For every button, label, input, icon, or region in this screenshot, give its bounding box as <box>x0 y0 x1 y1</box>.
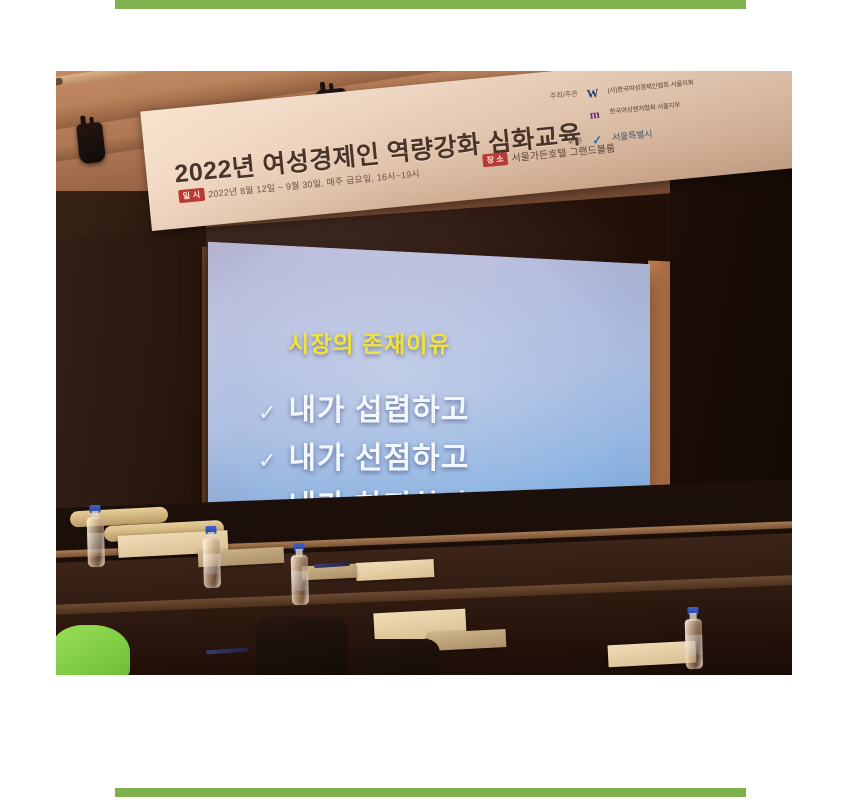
check-icon: ✓ <box>258 402 276 424</box>
bottle-label <box>685 635 703 655</box>
paper-sheet <box>607 641 696 668</box>
slide-bullet-text: 내가 섭렵하고 <box>288 385 469 429</box>
host-label: 주최/주관 <box>547 90 578 103</box>
conference-photo: 2022년 여성경제인 역량강화 심화교육 일 시2022년 8월 12일 ~ … <box>56 71 792 675</box>
bottle-label <box>291 571 309 591</box>
green-cloth <box>56 625 130 675</box>
chair-back <box>256 617 348 675</box>
sponsor-text: 서울특별시 <box>612 128 654 145</box>
bottle-body <box>291 555 309 605</box>
venue-tag: 장 소 <box>482 152 508 167</box>
stage-light <box>76 122 106 164</box>
slide-title: 시장의 존재이유 <box>288 325 451 359</box>
schedule-tag: 일 시 <box>178 188 205 203</box>
bottle-body <box>203 538 221 588</box>
slide-bullet: ✓ 내가 섭렵하고 <box>258 385 618 429</box>
w-logo-icon: W <box>583 85 602 103</box>
bottle-label <box>87 533 105 553</box>
water-bottle <box>202 526 221 588</box>
m-logo-icon: m <box>585 105 604 123</box>
banner-logo-block: 주최/주관 W (사)한국여성경제인협회 서울지회 m 한국여성벤처협회 서울지… <box>547 71 783 157</box>
top-green-rule <box>115 0 746 9</box>
host-1-text: (사)한국여성경제인협회 서울지회 <box>607 79 694 97</box>
chair-back <box>354 639 440 675</box>
seoul-logo-icon: ✓ <box>588 131 607 149</box>
water-bottle <box>290 543 309 605</box>
water-bottle <box>86 505 105 567</box>
host-label-spacer <box>550 116 580 119</box>
page-root: 2022년 여성경제인 역량강화 심화교육 일 시2022년 8월 12일 ~ … <box>0 0 860 800</box>
water-bottle <box>684 607 703 669</box>
bottle-body <box>685 619 703 669</box>
check-icon: ✓ <box>258 450 276 472</box>
host-2-text: 한국여성벤처협회 서울지부 <box>609 101 681 118</box>
slide-bullet: ✓ 내가 선점하고 <box>258 433 618 477</box>
bottom-green-rule <box>115 788 746 797</box>
sponsor-label: 후 원 <box>552 136 583 149</box>
bottle-body <box>87 517 105 567</box>
slide-bullet-text: 내가 선점하고 <box>288 433 469 477</box>
bottle-label <box>203 554 221 574</box>
